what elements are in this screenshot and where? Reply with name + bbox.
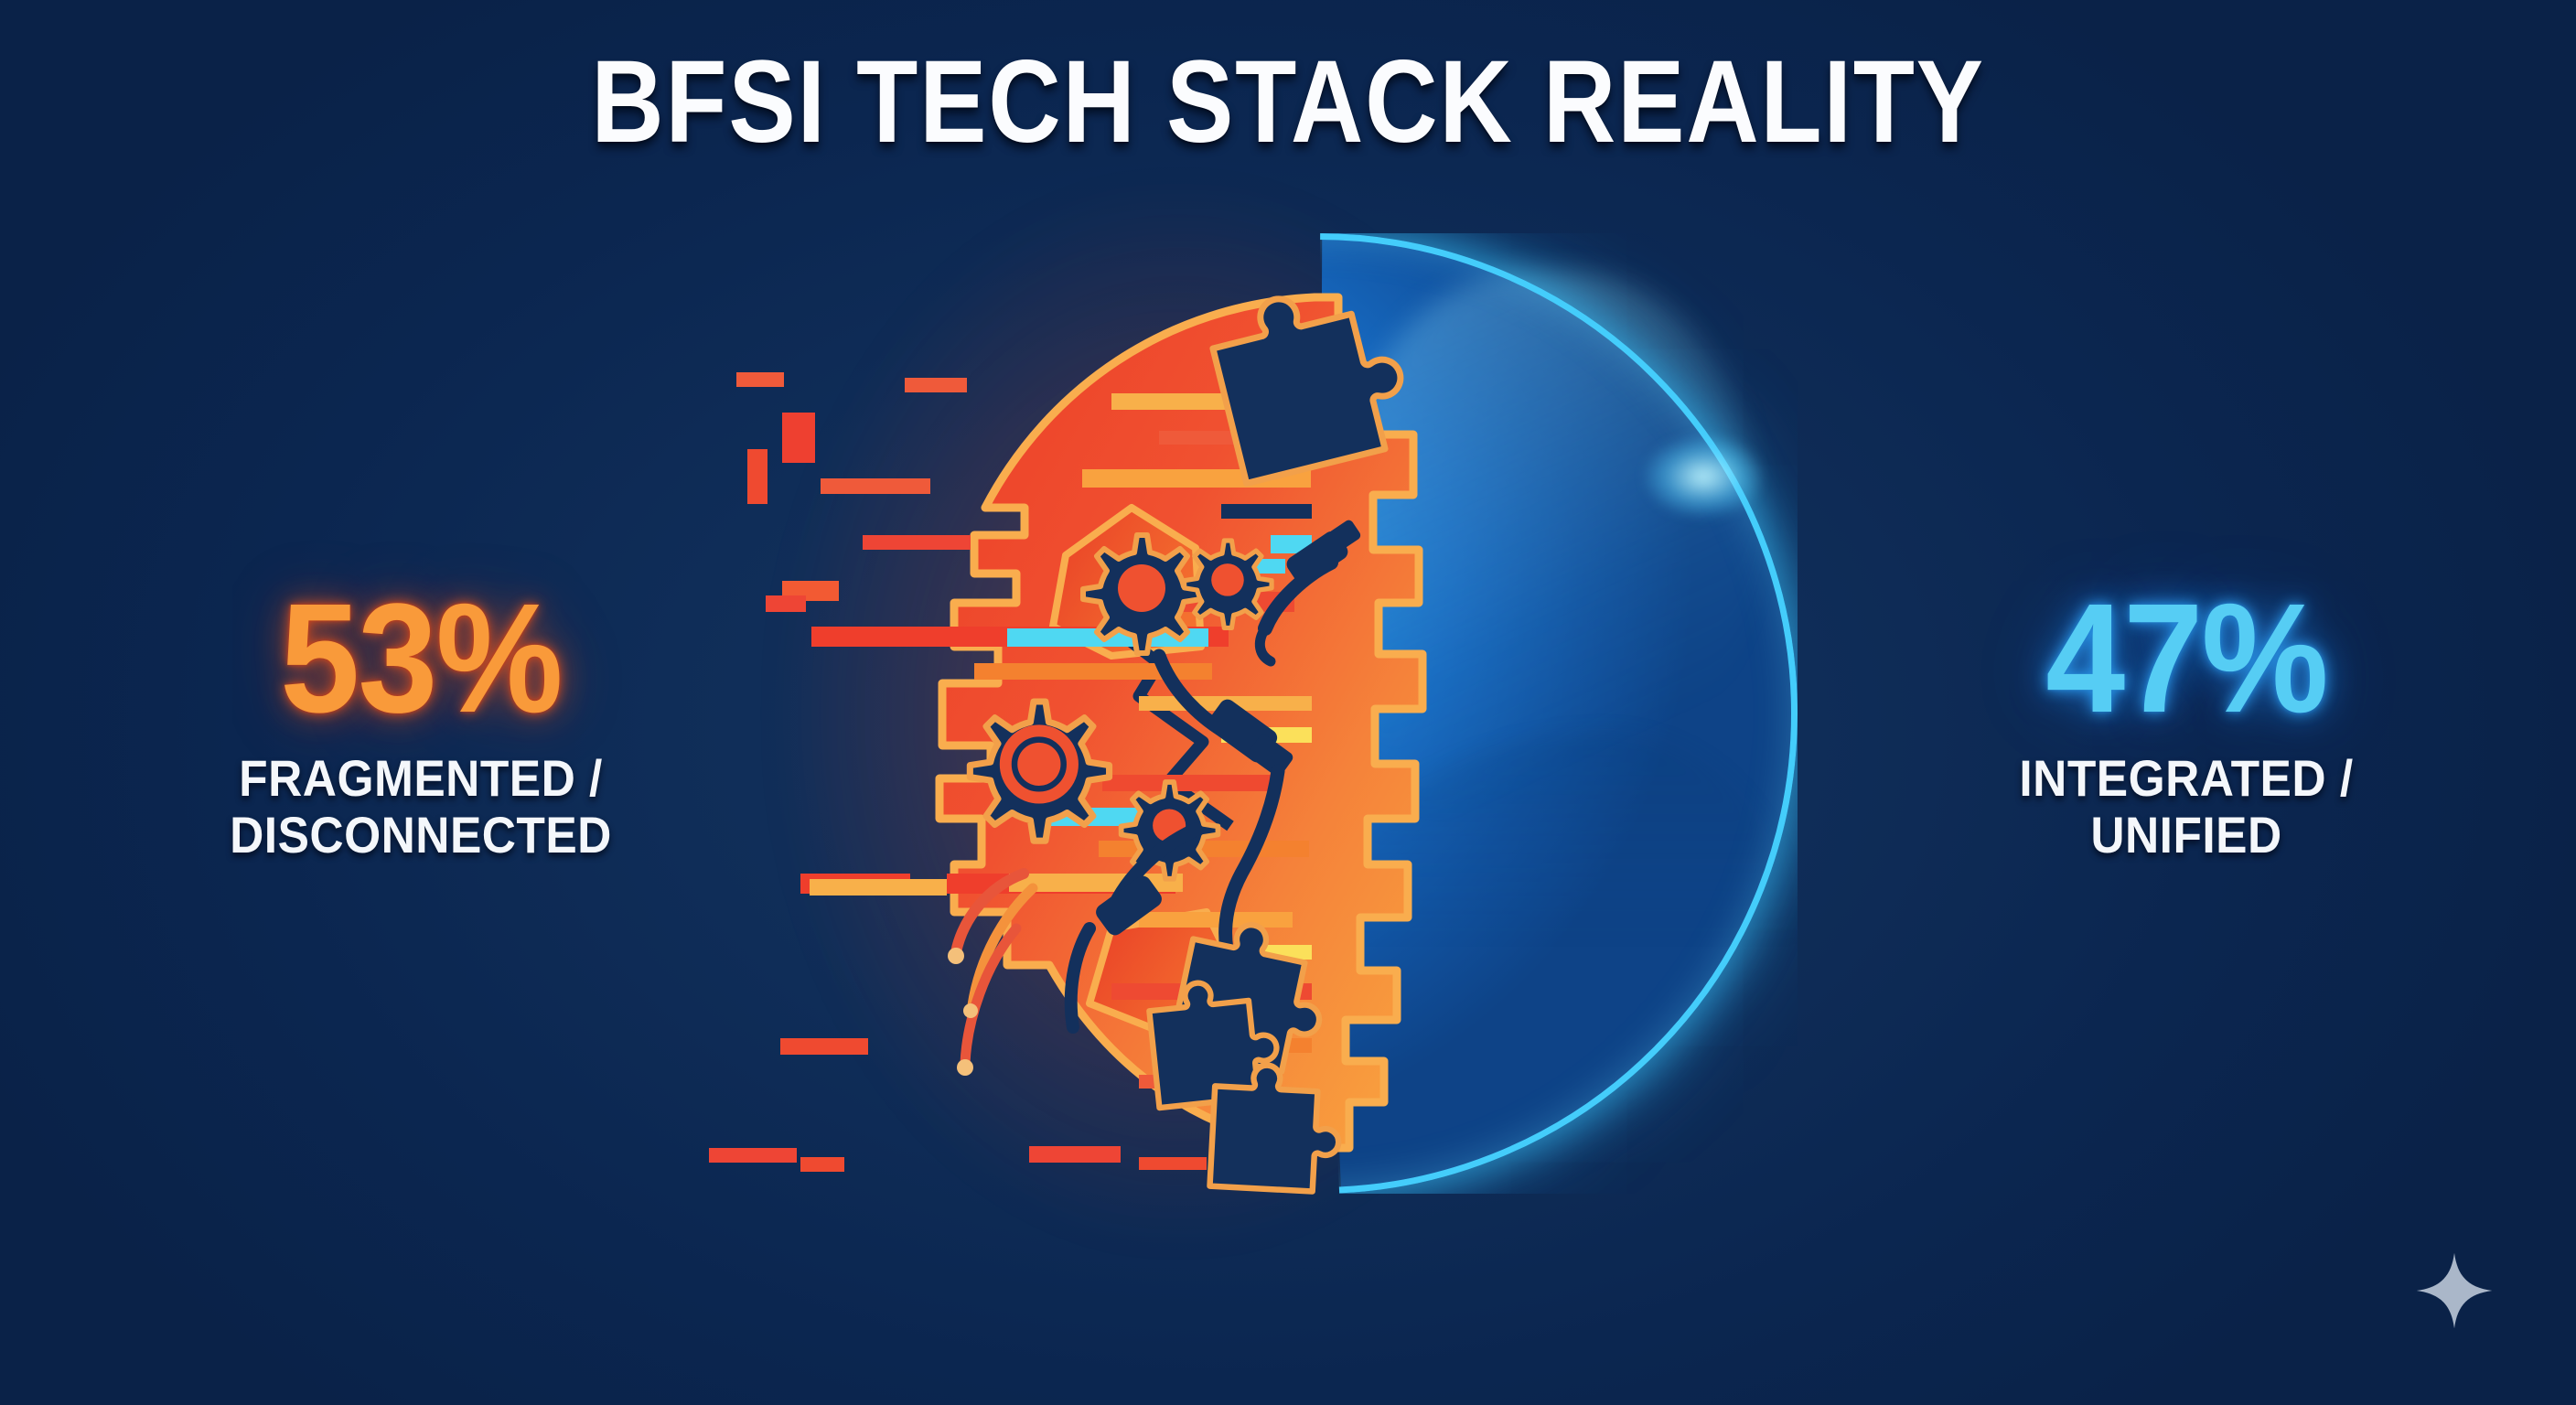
fragmented-percent-value: 53% [160,585,682,734]
integrated-percent-value: 47% [1926,585,2447,734]
gear-icon-upper-small [1185,541,1272,627]
pie-chart-graphic [837,233,1798,1194]
stat-fragmented: 53% FRAGMENTED / DISCONNECTED [137,585,704,864]
integrated-label: INTEGRATED / UNIFIED [1926,750,2447,864]
sparkle-icon [2415,1251,2494,1330]
gear-icon-upper [1083,535,1201,653]
infographic-canvas: BFSI TECH STACK REALITY [0,0,2576,1405]
gear-icon-large [970,702,1109,841]
page-title: BFSI TECH STACK REALITY [180,35,2396,169]
stat-integrated: 47% INTEGRATED / UNIFIED [1903,585,2470,864]
fragmented-label: FRAGMENTED / DISCONNECTED [160,750,682,864]
fragmented-half-slice [837,233,1798,1194]
